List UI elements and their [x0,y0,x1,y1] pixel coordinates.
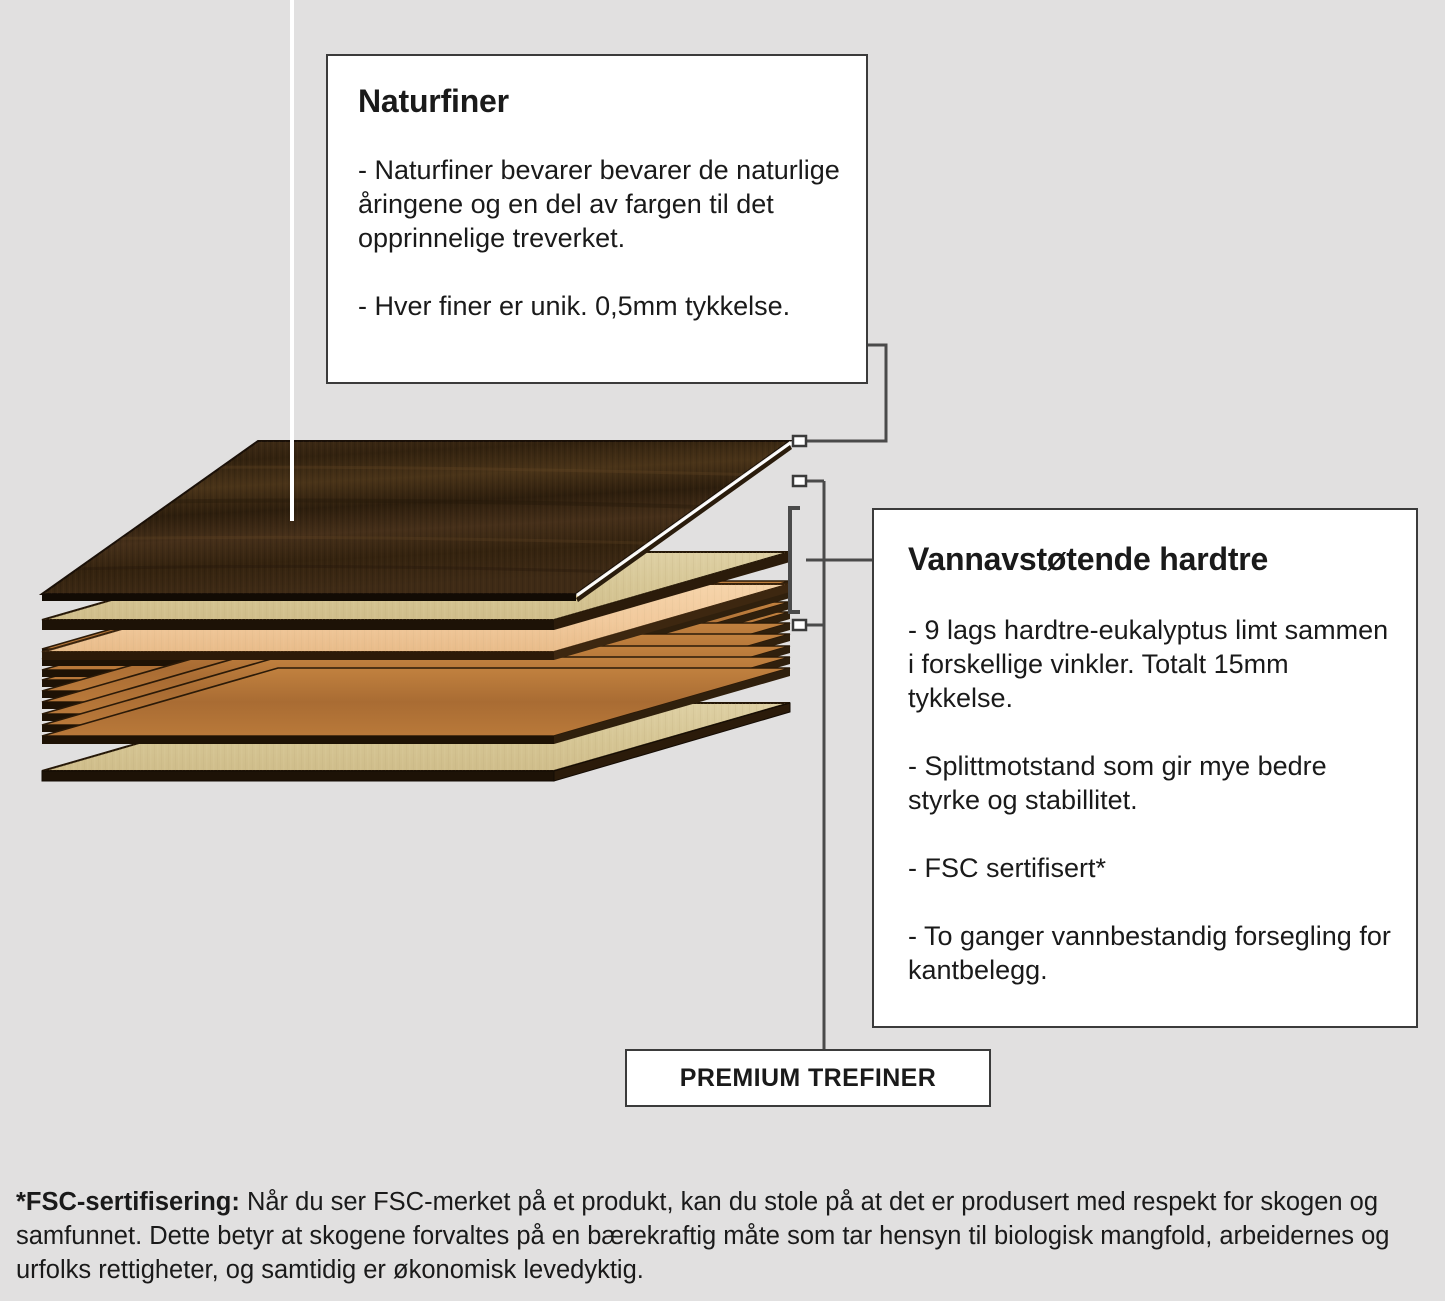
premium-trefiner-label-box: PREMIUM TREFINER [625,1049,991,1107]
premium-trefiner-label: PREMIUM TREFINER [680,1064,936,1093]
callout-hardtre: Vannavstøtende hardtre - 9 lags hardtre-… [872,508,1418,1028]
callout-hardtre-paragraph-1: - 9 lags hardtre-eukalyptus limt sammen … [908,613,1400,715]
arrowhead-veneer [793,436,806,446]
callout-naturfiner-paragraph-2: - Hver finer er unik. 0,5mm tykkelse. [358,289,840,323]
callout-naturfiner-paragraph-1: - Naturfiner bevarer bevarer de naturlig… [358,153,840,255]
callout-hardtre-title: Vannavstøtende hardtre [908,542,1400,577]
fsc-footnote-lead: *FSC-sertifisering: [16,1188,240,1216]
arrowhead-birch-upper [793,476,806,486]
diagram-stage: Naturfiner - Naturfiner bevarer bevarer … [0,0,1445,1301]
callout-hardtre-paragraph-2: - Splittmotstand som gir mye bedre styrk… [908,749,1400,817]
callout-naturfiner: Naturfiner - Naturfiner bevarer bevarer … [326,54,868,384]
callout-hardtre-paragraph-4: - To ganger vannbestandig forsegling for… [908,919,1400,987]
callout-hardtre-paragraph-3: - FSC sertifisert* [908,851,1400,885]
callout-naturfiner-title: Naturfiner [358,84,840,119]
fsc-footnote: *FSC-sertifisering: Når du ser FSC-merke… [16,1186,1431,1288]
arrowhead-birch-bottom [793,620,806,630]
leader-arrowheads [793,436,806,630]
core-stack-bracket [790,508,800,612]
